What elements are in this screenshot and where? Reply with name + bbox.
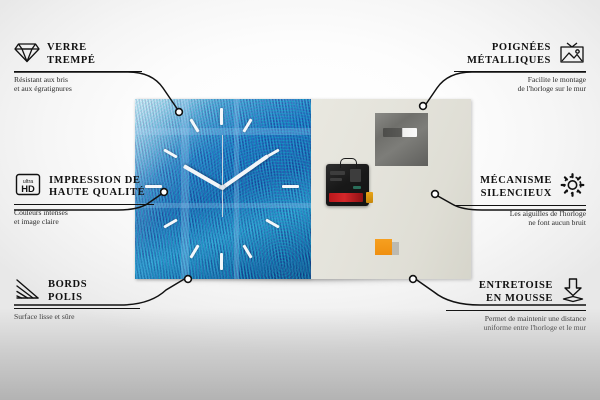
callout-subtitle: Permet de maintenir une distance uniform… [443,314,586,333]
callout-title: ENTRETOISE EN MOUSSE [479,280,553,305]
callout-entretoise-en-mousse: ENTRETOISE EN MOUSSE Permet de maintenir… [443,277,586,333]
clock-center-cap [220,185,225,190]
callout-rule [14,308,140,309]
diamond-icon [14,40,40,69]
callout-title: BORDS POLIS [48,279,87,304]
callout-mecanisme-silencieux: MÉCANISME SILENCIEUX Les aiguilles de l'… [451,172,586,228]
product-image [135,99,471,282]
callout-poignees-metalliques: POIGNÉES MÉTALLIQUES Facilite le montage… [451,40,586,94]
callout-verre-trempe: VERRE TREMPÉ Résistant aux bris et aux é… [14,40,149,94]
callout-rule [14,204,154,205]
metal-hanger-plate [375,113,428,166]
clock-battery [329,193,363,202]
clock-tick [220,253,223,270]
clock-tick [220,108,223,125]
callout-title: MÉCANISME SILENCIEUX [480,175,552,200]
gear-icon [559,172,586,203]
callout-subtitle: Surface lisse et sûre [14,312,144,322]
mechanism-detail [330,178,342,181]
mechanism-detail [353,186,361,189]
battery-terminal [366,192,373,203]
foam-spacer [375,239,392,255]
callout-title: IMPRESSION DE HAUTE QUALITÉ [49,175,145,200]
clock-back-panel [311,99,471,279]
picture-frame-hanger-icon [558,40,586,69]
clock-tick [282,185,299,188]
callout-title: VERRE TREMPÉ [47,42,96,67]
clock-second-hand [222,135,223,217]
hanger-slot [383,128,417,137]
clock-mechanism [326,164,369,206]
callout-rule [454,205,586,206]
callout-rule [454,71,586,72]
callout-subtitle: Les aiguilles de l'horloge ne font aucun… [451,209,586,228]
ultra-hd-icon-large-text: HD [21,183,35,194]
callout-rule [14,71,142,72]
callout-subtitle: Résistant aux bris et aux égratignures [14,75,149,94]
clock-face [135,99,311,279]
callout-rule [446,310,586,311]
infographic-canvas: VERRE TREMPÉ Résistant aux bris et aux é… [0,0,600,400]
callout-subtitle: Couleurs intenses et image claire [14,208,159,227]
polished-edge-icon [14,277,41,306]
down-arrow-stack-icon [560,277,586,308]
callout-subtitle: Facilite le montage de l'horloge sur le … [451,75,586,94]
callout-bords-polis: BORDS POLIS Surface lisse et sûre [14,277,144,321]
callout-impression-haute-qualite: ultra HD IMPRESSION DE HAUTE QUALITÉ Cou… [14,172,159,227]
foam-spacer-shadow [392,242,399,255]
callout-title: POIGNÉES MÉTALLIQUES [467,42,551,67]
mechanism-detail [350,169,361,182]
mechanism-detail [330,171,345,175]
ultra-hd-icon: ultra HD [14,172,42,202]
mechanism-hook-icon [340,158,357,168]
